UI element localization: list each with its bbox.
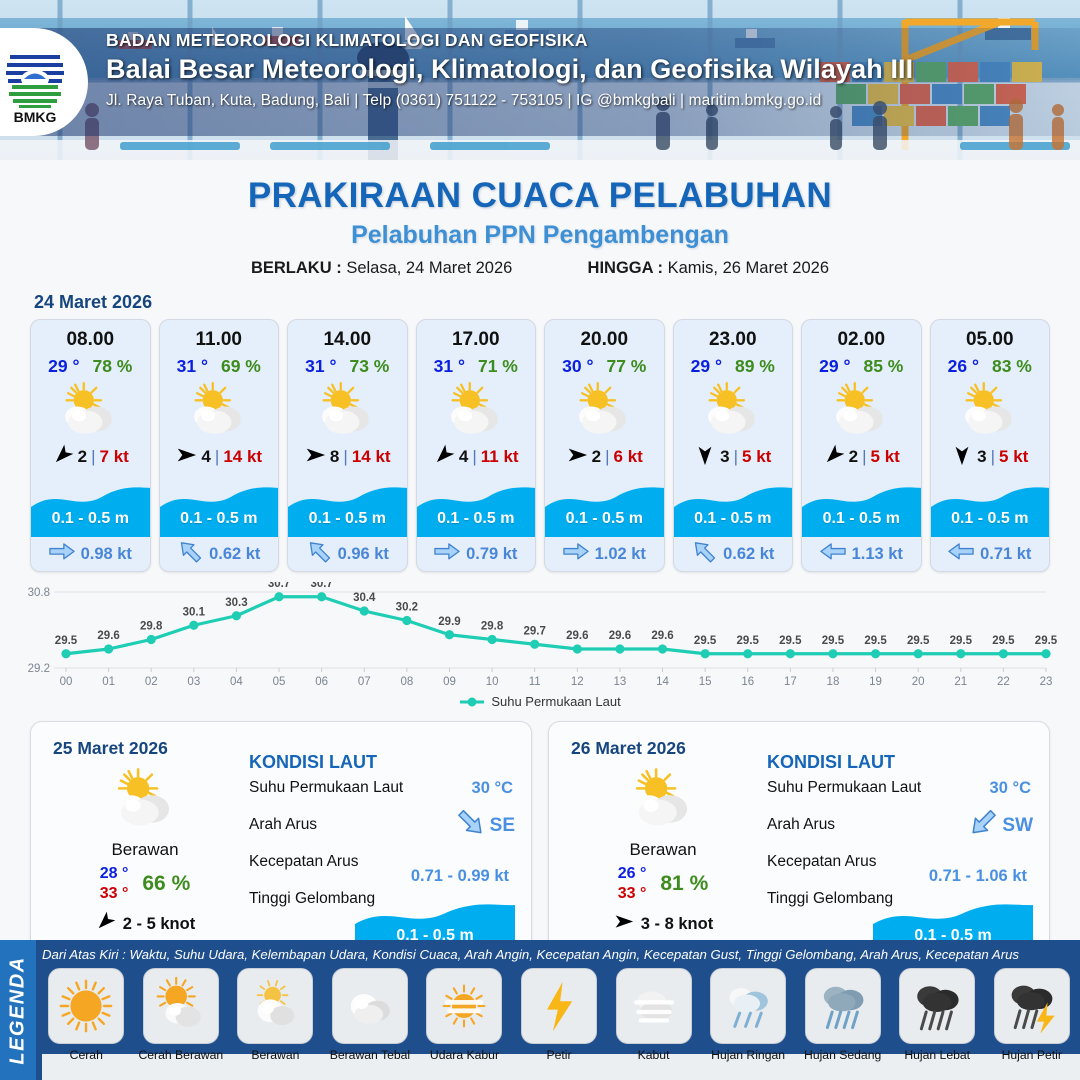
- card-temperature: 29 °: [48, 356, 79, 377]
- separator: |: [215, 447, 219, 467]
- svg-text:29.6: 29.6: [97, 630, 119, 642]
- sst-value: 30 °C: [990, 779, 1031, 798]
- wind-direction-icon: [304, 444, 326, 471]
- legend-note: Dari Atas Kiri : Waktu, Suhu Udara, Kele…: [42, 947, 1074, 962]
- wave-band: 0.1 - 0.5 m: [31, 475, 150, 537]
- berawan-tebal-icon: [332, 968, 408, 1044]
- wind-direction-icon: [52, 444, 74, 471]
- day-temp-max: 33 °: [100, 884, 129, 904]
- current-direction-icon: [563, 542, 589, 566]
- udara-kabur-icon: [426, 968, 502, 1044]
- card-temperature: 31 °: [177, 356, 208, 377]
- day-humidity: 81 %: [660, 872, 708, 896]
- legend-item: Hujan Lebat: [893, 968, 982, 1078]
- svg-text:29.5: 29.5: [737, 635, 760, 647]
- current-direction-icon: [434, 542, 460, 566]
- svg-text:29.5: 29.5: [992, 635, 1015, 647]
- separator: |: [605, 447, 609, 467]
- legend-side-label: LEGENDA: [7, 956, 30, 1064]
- wave-height-value: 0.1 - 0.5 m: [417, 510, 536, 528]
- legend-items: Cerah Cerah Berawan Berawan: [42, 968, 1076, 1078]
- wind-speed-value: 6 kt: [614, 447, 643, 467]
- svg-text:15: 15: [699, 676, 712, 688]
- current-direction-value: SE: [490, 815, 515, 837]
- sst-label: Suhu Permukaan Laut: [249, 779, 403, 796]
- svg-text:00: 00: [60, 676, 73, 688]
- legend-item-label: Berawan: [251, 1048, 299, 1062]
- cerah-berawan-icon: [143, 968, 219, 1044]
- wind-direction-value: 4: [201, 447, 210, 467]
- sea-condition-header: KONDISI LAUT: [767, 752, 1035, 773]
- forecast-card: 14.00 31 ° 73 %: [287, 319, 408, 572]
- page-header: BMKG BADAN METEOROLOGI KLIMATOLOGI DAN G…: [0, 0, 1080, 160]
- hujan-ringan-icon: [710, 968, 786, 1044]
- svg-text:08: 08: [400, 676, 413, 688]
- card-time: 23.00: [674, 320, 793, 351]
- wind-speed-value: 14 kt: [352, 447, 391, 467]
- sea-row-sst: Suhu Permukaan Laut 30 °C: [767, 779, 1035, 816]
- forecast-card: 23.00 29 ° 89 %: [673, 319, 794, 572]
- wind-speed-value: 5 kt: [871, 447, 900, 467]
- cerah-berawan-icon: [31, 379, 150, 441]
- current-speed-value: 1.13 kt: [852, 545, 903, 564]
- wind-direction-value: 2: [592, 447, 601, 467]
- day-wind-range: 3 - 8 knot: [641, 915, 713, 934]
- valid-from-value: Selasa, 24 Maret 2026: [346, 259, 512, 277]
- current-direction-icon: [306, 542, 332, 566]
- wind-direction-value: 4: [459, 447, 468, 467]
- wind-direction-icon: [951, 444, 973, 471]
- wave-band: 0.1 - 0.5 m: [545, 475, 664, 537]
- current-direction-label: Arah Arus: [767, 816, 835, 833]
- svg-text:23: 23: [1040, 676, 1053, 688]
- card-humidity: 69 %: [221, 356, 261, 377]
- sst-label: Suhu Permukaan Laut: [767, 779, 921, 796]
- wind-direction-icon: [694, 444, 716, 471]
- day-humidity: 66 %: [142, 872, 190, 896]
- wind-speed-value: 5 kt: [999, 447, 1028, 467]
- current-direction-label: Arah Arus: [249, 816, 317, 833]
- day-date: 25 Maret 2026: [53, 738, 168, 759]
- card-time: 08.00: [31, 320, 150, 351]
- daily-forecast-row: 25 Maret 2026 Berawan: [0, 709, 1080, 971]
- svg-text:29.5: 29.5: [694, 635, 717, 647]
- cerah-berawan-icon: [802, 379, 921, 441]
- svg-text:29.5: 29.5: [950, 635, 973, 647]
- contact-info: Jl. Raya Tuban, Kuta, Badung, Bali | Tel…: [106, 92, 913, 110]
- forecast-card: 17.00 31 ° 71 %: [416, 319, 537, 572]
- day-wind-direction-icon: [95, 911, 116, 937]
- sst-value: 30 °C: [472, 779, 513, 798]
- card-temperature: 29 °: [819, 356, 850, 377]
- card-humidity: 83 %: [992, 356, 1032, 377]
- card-time: 17.00: [417, 320, 536, 351]
- separator: |: [91, 447, 95, 467]
- sea-row-current-dir: Arah Arus SE: [249, 816, 517, 853]
- sea-condition-header: KONDISI LAUT: [249, 752, 517, 773]
- legend-item: Hujan Sedang: [798, 968, 887, 1078]
- chart-legend: Suhu Permukaan Laut: [0, 694, 1080, 709]
- wind-direction-value: 3: [720, 447, 729, 467]
- card-temperature: 26 °: [948, 356, 979, 377]
- legend-item: Kabut: [609, 968, 698, 1078]
- page-title: PRAKIRAAN CUACA PELABUHAN: [0, 176, 1080, 216]
- svg-text:BMKG: BMKG: [14, 109, 57, 125]
- petir-icon: [521, 968, 597, 1044]
- hujan-lebat-icon: [899, 968, 975, 1044]
- svg-text:30.4: 30.4: [353, 592, 376, 604]
- valid-to-value: Kamis, 26 Maret 2026: [668, 259, 829, 277]
- card-time: 14.00: [288, 320, 407, 351]
- hourly-forecast-row: 08.00 29 ° 78 %: [0, 319, 1080, 572]
- current-speed-label: Kecepatan Arus: [249, 853, 358, 870]
- cerah-berawan-icon: [931, 379, 1050, 441]
- card-time: 05.00: [931, 320, 1050, 351]
- svg-text:30.7: 30.7: [310, 582, 332, 590]
- forecast-card: 05.00 26 ° 83 %: [930, 319, 1051, 572]
- wind-speed-value: 14 kt: [223, 447, 262, 467]
- svg-text:29.5: 29.5: [822, 635, 845, 647]
- card-humidity: 73 %: [349, 356, 389, 377]
- legend-item: Cerah Berawan: [137, 968, 226, 1078]
- svg-text:01: 01: [102, 676, 115, 688]
- svg-text:29.7: 29.7: [524, 625, 546, 637]
- separator: |: [862, 447, 866, 467]
- title-block: PRAKIRAAN CUACA PELABUHAN Pelabuhan PPN …: [0, 176, 1080, 278]
- current-direction-icon: [820, 542, 846, 566]
- legend-item-label: Hujan Lebat: [904, 1048, 970, 1062]
- current-direction-icon: [456, 812, 486, 840]
- validity-line: BERLAKU : Selasa, 24 Maret 2026 HINGGA :…: [0, 259, 1080, 278]
- forecast-card: 20.00 30 ° 77 %: [544, 319, 665, 572]
- svg-text:29.5: 29.5: [779, 635, 802, 647]
- forecast-card: 11.00 31 ° 69 %: [159, 319, 280, 572]
- card-temperature: 31 °: [434, 356, 465, 377]
- svg-text:09: 09: [443, 676, 456, 688]
- wind-speed-value: 5 kt: [742, 447, 771, 467]
- card-humidity: 89 %: [735, 356, 775, 377]
- day-temp-min: 26 °: [618, 864, 647, 884]
- svg-text:29.6: 29.6: [609, 630, 631, 642]
- legend-item-label: Kabut: [638, 1048, 670, 1062]
- wind-direction-icon: [566, 444, 588, 471]
- wind-direction-value: 8: [330, 447, 339, 467]
- valid-to-label: HINGGA :: [588, 259, 663, 277]
- legend-side-bar: LEGENDA: [0, 940, 36, 1080]
- cerah-icon: [48, 968, 124, 1044]
- berawan-icon: [237, 968, 313, 1044]
- legend-item-label: Petir: [546, 1048, 571, 1062]
- wave-band: 0.1 - 0.5 m: [288, 475, 407, 537]
- current-speed-value: 0.71 kt: [980, 545, 1031, 564]
- legend-item: Petir: [515, 968, 604, 1078]
- svg-text:29.6: 29.6: [651, 630, 673, 642]
- card-humidity: 78 %: [92, 356, 132, 377]
- office-name: Balai Besar Meteorologi, Klimatologi, da…: [106, 54, 913, 85]
- svg-text:12: 12: [571, 676, 584, 688]
- svg-text:20: 20: [912, 676, 925, 688]
- forecast-card: 08.00 29 ° 78 %: [30, 319, 151, 572]
- current-direction-icon: [177, 542, 203, 566]
- sst-chart: 30.829.229.50029.60129.80230.10330.30430…: [22, 582, 1058, 692]
- wave-band: 0.1 - 0.5 m: [417, 475, 536, 537]
- legend-item: Berawan: [231, 968, 320, 1078]
- current-speed-value: 0.79 kt: [466, 545, 517, 564]
- svg-text:17: 17: [784, 676, 797, 688]
- current-direction-icon: [49, 542, 75, 566]
- svg-text:29.2: 29.2: [28, 663, 50, 675]
- current-speed-label: Kecepatan Arus: [767, 853, 876, 870]
- current-speed-value: 0.62 kt: [723, 545, 774, 564]
- svg-text:19: 19: [869, 676, 882, 688]
- current-speed-value: 0.96 kt: [338, 545, 389, 564]
- sea-row-current-dir: Arah Arus SW: [767, 816, 1035, 853]
- kabut-icon: [616, 968, 692, 1044]
- sea-row-wave: Tinggi Gelombang 0.1 - 0.5 m: [249, 890, 517, 927]
- hujan-sedang-icon: [805, 968, 881, 1044]
- legend-item: Hujan Petir: [987, 968, 1076, 1078]
- wind-direction-value: 2: [78, 447, 87, 467]
- legend-item: Udara Kabur: [420, 968, 509, 1078]
- svg-text:07: 07: [358, 676, 371, 688]
- sea-row-current-speed: Kecepatan Arus 0.71 - 1.06 kt: [767, 853, 1035, 890]
- svg-text:30.1: 30.1: [183, 606, 206, 618]
- wave-height-value: 0.1 - 0.5 m: [931, 510, 1050, 528]
- svg-text:29.8: 29.8: [481, 621, 504, 633]
- agency-name: BADAN METEOROLOGI KLIMATOLOGI DAN GEOFIS…: [106, 30, 913, 51]
- wave-height-value: 0.1 - 0.5 m: [802, 510, 921, 528]
- card-temperature: 31 °: [305, 356, 336, 377]
- svg-text:29.5: 29.5: [907, 635, 930, 647]
- legend-item: Berawan Tebal: [326, 968, 415, 1078]
- svg-text:02: 02: [145, 676, 158, 688]
- legend-item-label: Hujan Sedang: [804, 1048, 881, 1062]
- svg-text:04: 04: [230, 676, 243, 688]
- current-direction-icon: [691, 542, 717, 566]
- chart-legend-marker: [459, 696, 485, 708]
- legend-item-label: Hujan Ringan: [711, 1048, 785, 1062]
- svg-text:30.7: 30.7: [268, 582, 290, 590]
- wave-height-value: 0.1 - 0.5 m: [545, 510, 664, 528]
- day-wind-direction-icon: [613, 911, 634, 937]
- svg-text:11: 11: [529, 676, 541, 688]
- current-speed-value: 0.62 kt: [209, 545, 260, 564]
- berawan-icon: [563, 766, 763, 838]
- day-temp-max: 33 °: [618, 884, 647, 904]
- day-temp-min: 28 °: [100, 864, 129, 884]
- legend-item: Cerah: [42, 968, 131, 1078]
- card-humidity: 71 %: [478, 356, 518, 377]
- current-speed-value: 0.98 kt: [81, 545, 132, 564]
- current-direction-icon: [948, 542, 974, 566]
- wind-direction-icon: [823, 444, 845, 471]
- svg-text:14: 14: [656, 676, 669, 688]
- separator: |: [991, 447, 995, 467]
- wind-direction-icon: [433, 444, 455, 471]
- cerah-berawan-icon: [160, 379, 279, 441]
- current-direction-icon: [968, 812, 998, 840]
- daily-forecast-panel: 25 Maret 2026 Berawan: [30, 721, 532, 971]
- current-speed-value: 0.71 - 1.06 kt: [929, 867, 1027, 886]
- legend-item-label: Cerah Berawan: [138, 1048, 223, 1062]
- wave-band: 0.1 - 0.5 m: [160, 475, 279, 537]
- wind-speed-value: 11 kt: [481, 447, 519, 467]
- card-time: 02.00: [802, 320, 921, 351]
- svg-text:30.3: 30.3: [225, 597, 247, 609]
- legend-section: LEGENDA Dari Atas Kiri : Waktu, Suhu Uda…: [0, 940, 1080, 1080]
- svg-text:16: 16: [741, 676, 754, 688]
- wave-height-value: 0.1 - 0.5 m: [288, 510, 407, 528]
- berawan-icon: [45, 766, 245, 838]
- daily-forecast-panel: 26 Maret 2026 Berawan: [548, 721, 1050, 971]
- legend-item-label: Berawan Tebal: [330, 1048, 410, 1062]
- cerah-berawan-icon: [288, 379, 407, 441]
- sea-row-current-speed: Kecepatan Arus 0.71 - 0.99 kt: [249, 853, 517, 890]
- hujan-petir-icon: [994, 968, 1070, 1044]
- current-direction-value: SW: [1002, 815, 1033, 837]
- wave-band: 0.1 - 0.5 m: [674, 475, 793, 537]
- sea-row-sst: Suhu Permukaan Laut 30 °C: [249, 779, 517, 816]
- separator: |: [472, 447, 476, 467]
- sea-row-wave: Tinggi Gelombang 0.1 - 0.5 m: [767, 890, 1035, 927]
- wave-height-value: 0.1 - 0.5 m: [31, 510, 150, 528]
- chart-legend-label: Suhu Permukaan Laut: [491, 694, 620, 709]
- wind-direction-value: 3: [977, 447, 986, 467]
- wave-band: 0.1 - 0.5 m: [931, 475, 1050, 537]
- svg-text:29.6: 29.6: [566, 630, 588, 642]
- wave-height-value: 0.1 - 0.5 m: [674, 510, 793, 528]
- wind-direction-value: 2: [849, 447, 858, 467]
- card-time: 20.00: [545, 320, 664, 351]
- day-date: 26 Maret 2026: [571, 738, 686, 759]
- svg-text:29.5: 29.5: [1035, 635, 1058, 647]
- legend-item-label: Hujan Petir: [1002, 1048, 1062, 1062]
- svg-text:29.8: 29.8: [140, 621, 163, 633]
- current-speed-value: 0.71 - 0.99 kt: [411, 867, 509, 886]
- svg-text:30.8: 30.8: [28, 587, 50, 599]
- svg-text:05: 05: [273, 676, 286, 688]
- card-humidity: 85 %: [863, 356, 903, 377]
- separator: |: [343, 447, 347, 467]
- svg-text:29.5: 29.5: [55, 635, 78, 647]
- day-wind-range: 2 - 5 knot: [123, 915, 195, 934]
- card-temperature: 29 °: [691, 356, 722, 377]
- svg-text:10: 10: [486, 676, 499, 688]
- separator: |: [734, 447, 738, 467]
- legend-item-label: Cerah: [70, 1048, 103, 1062]
- card-temperature: 30 °: [562, 356, 593, 377]
- wind-direction-icon: [175, 444, 197, 471]
- svg-text:21: 21: [954, 676, 967, 688]
- cerah-berawan-icon: [545, 379, 664, 441]
- svg-text:06: 06: [315, 676, 328, 688]
- svg-text:03: 03: [187, 676, 200, 688]
- legend-item-label: Udara Kabur: [430, 1048, 499, 1062]
- forecast-date-label: 24 Maret 2026: [34, 292, 1080, 313]
- valid-from-label: BERLAKU :: [251, 259, 342, 277]
- svg-text:13: 13: [614, 676, 627, 688]
- day-condition: Berawan: [563, 840, 763, 860]
- legend-item: Hujan Ringan: [704, 968, 793, 1078]
- wind-speed-value: 7 kt: [100, 447, 129, 467]
- wave-band: 0.1 - 0.5 m: [802, 475, 921, 537]
- svg-text:29.5: 29.5: [864, 635, 887, 647]
- wave-height-value: 0.1 - 0.5 m: [160, 510, 279, 528]
- card-humidity: 77 %: [606, 356, 646, 377]
- forecast-card: 02.00 29 ° 85 %: [801, 319, 922, 572]
- current-speed-value: 1.02 kt: [595, 545, 646, 564]
- svg-text:22: 22: [997, 676, 1010, 688]
- card-time: 11.00: [160, 320, 279, 351]
- port-name: Pelabuhan PPN Pengambengan: [0, 221, 1080, 250]
- cerah-berawan-icon: [417, 379, 536, 441]
- cerah-berawan-icon: [674, 379, 793, 441]
- svg-text:29.9: 29.9: [438, 616, 460, 628]
- svg-text:30.2: 30.2: [396, 602, 418, 614]
- day-condition: Berawan: [45, 840, 245, 860]
- svg-text:18: 18: [827, 676, 840, 688]
